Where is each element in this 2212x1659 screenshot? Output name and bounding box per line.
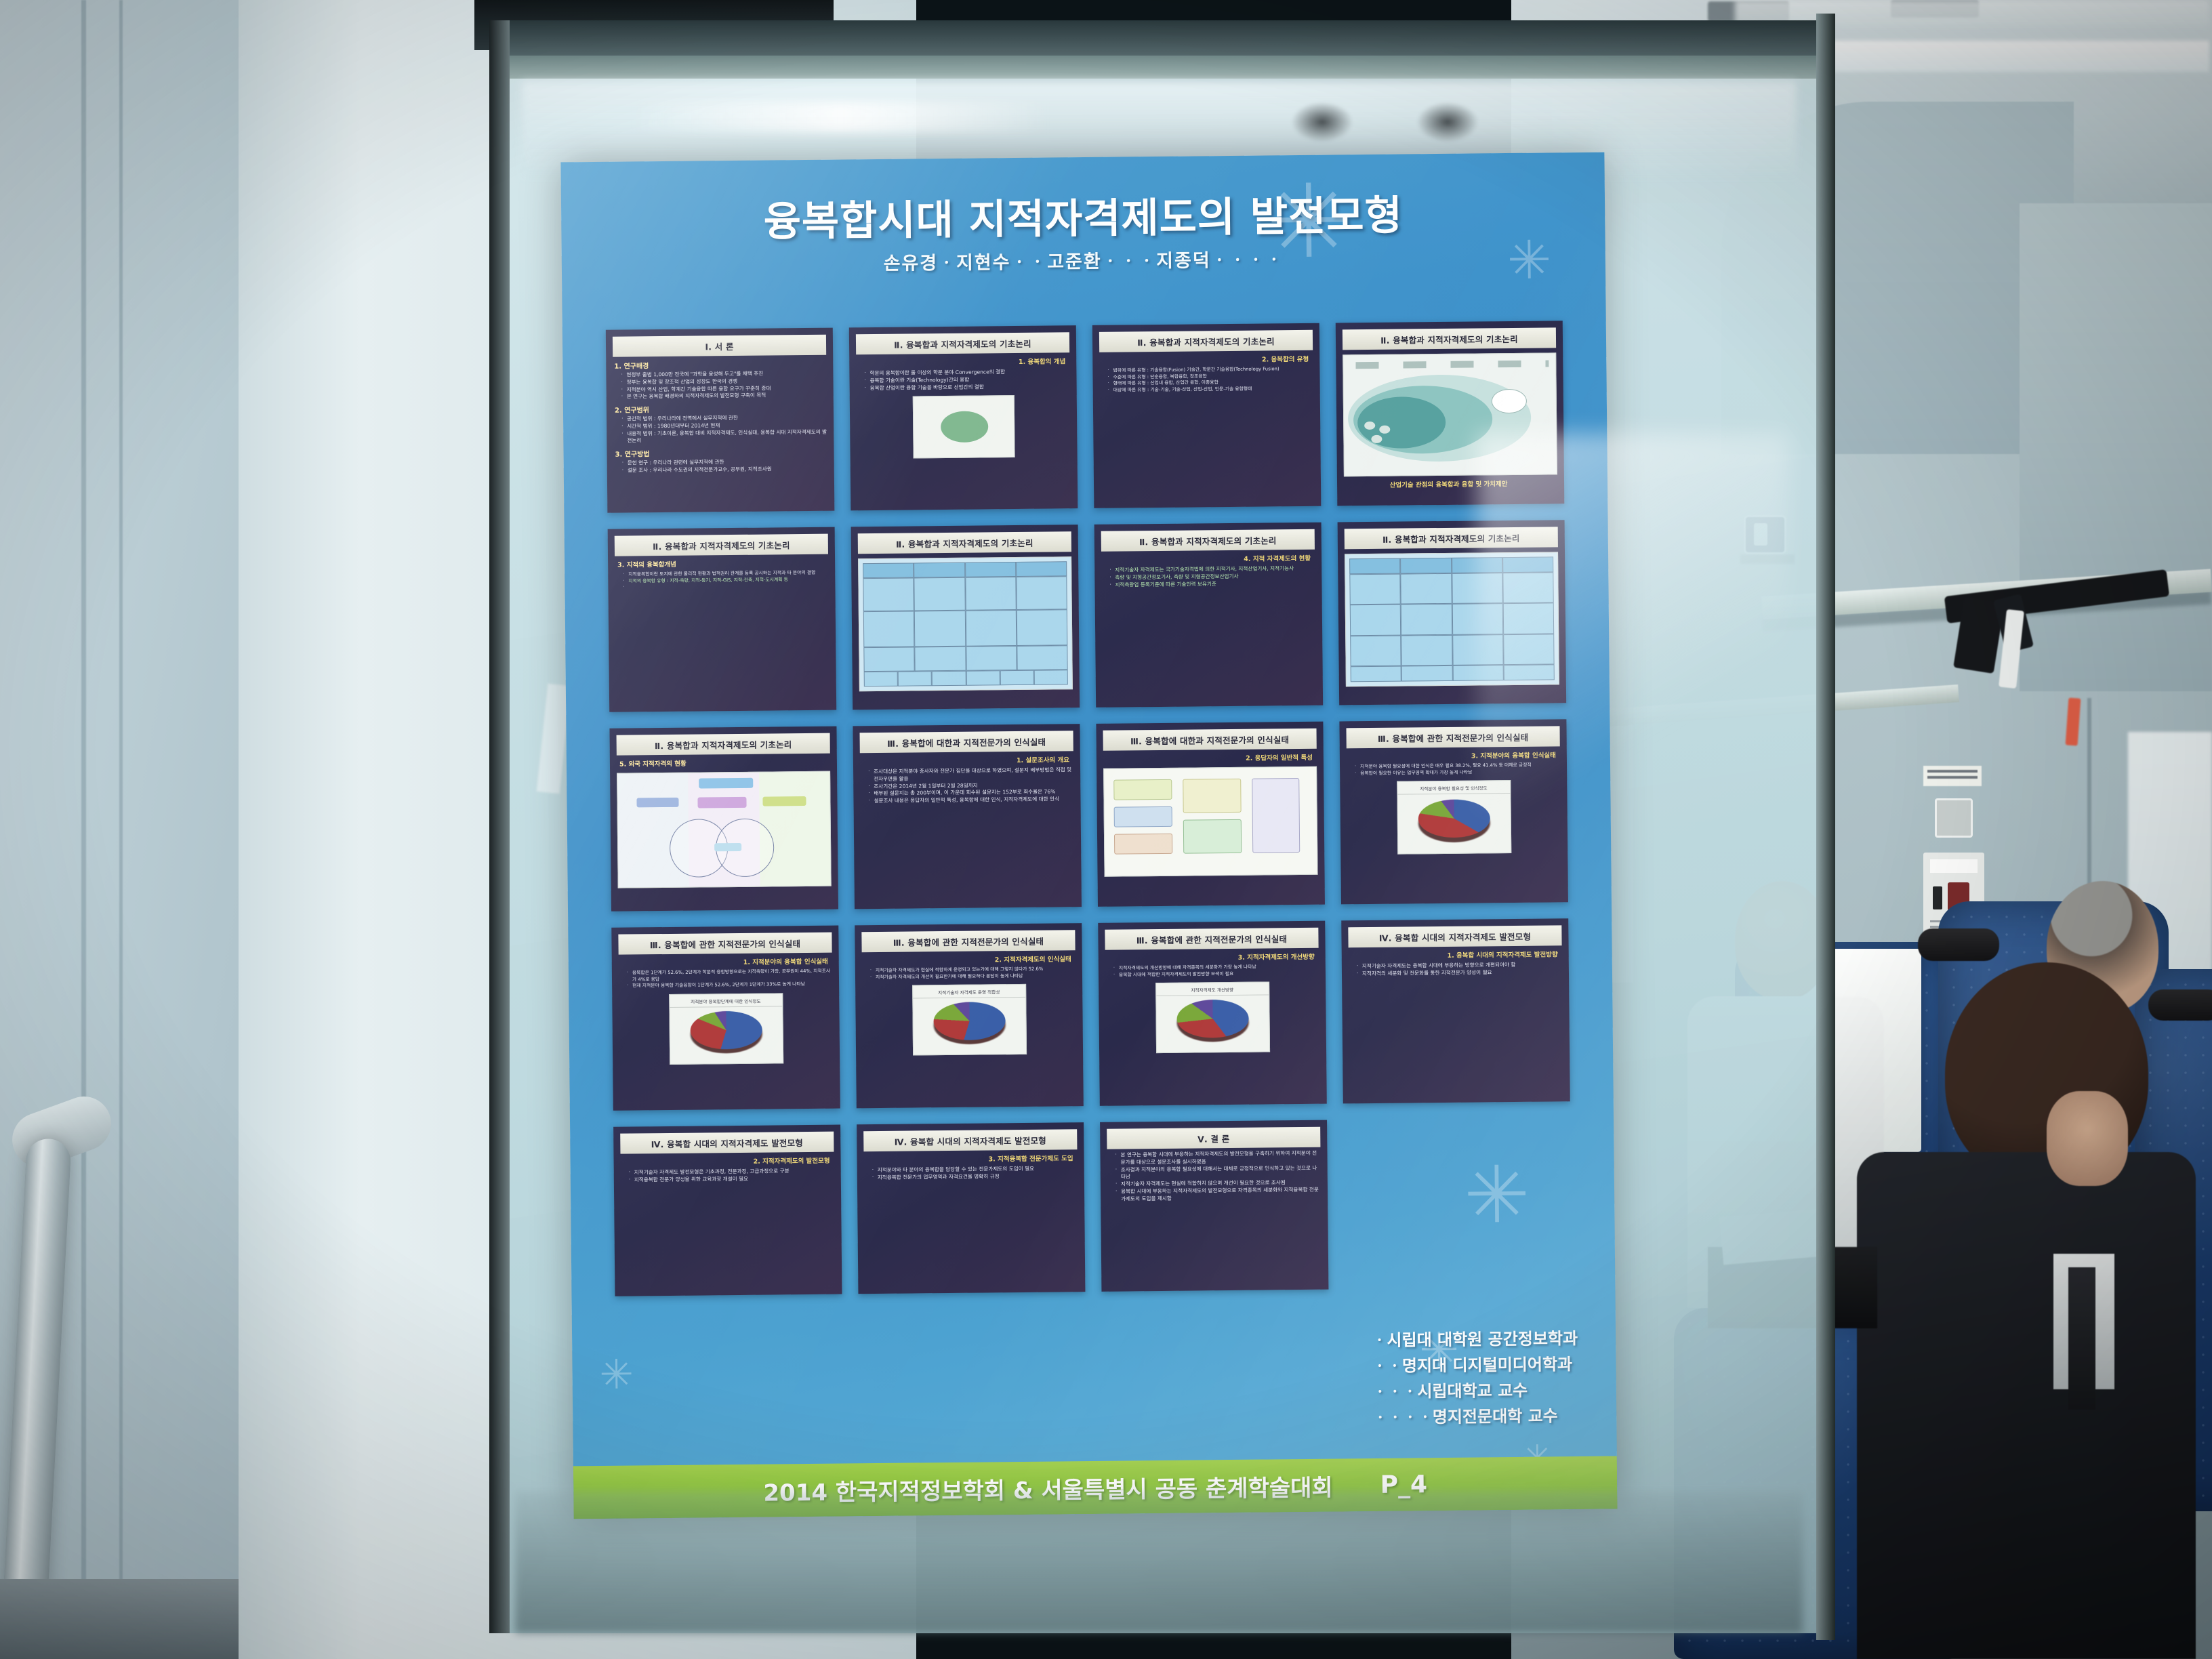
slide-subtitle: 3. 지적자격제도의 개선방향 (1105, 951, 1319, 963)
poster-title: 융복합시대 지적자격제도의 발전모형 (561, 181, 1605, 250)
pie-3d-slices (690, 1011, 762, 1050)
slide-subtitle: 2. 지적자격제도의 인식실태 (862, 954, 1076, 965)
wall-seam (81, 0, 86, 1659)
table-cell (1349, 558, 1400, 574)
flow-box (1183, 819, 1242, 854)
poster-slide-grid: Ⅰ. 서 론 1. 연구배경 현정부 출범 1,000만 전국에 "과학을 융성… (606, 321, 1572, 1296)
slide-header: Ⅱ. 융복합과 지적자격제도의 기초논리 (1101, 529, 1315, 552)
speaker-grille-icon (1935, 798, 1973, 838)
glass-frame-left (489, 20, 510, 1633)
slide-header: Ⅲ. 융복합에 대한과 지적전문가의 인식실태 (860, 731, 1073, 753)
panel-label-strip (1930, 859, 1978, 873)
table-row (864, 670, 1068, 687)
glass-reflection-spot-2 (1416, 102, 1479, 142)
slide-header: Ⅱ. 융복합과 지적자격제도의 기초논리 (1099, 330, 1313, 352)
slide-body: 융복합은 1단계가 52.6%, 2단계가 학문적 융합방향으로는 지적측량이 … (619, 968, 832, 990)
slide-header: Ⅳ. 융복합 시대의 지적자격제도 발전모형 (620, 1132, 834, 1154)
pie-chart: 지적자격제도 개선방향 (1156, 983, 1269, 1053)
table-cell (1017, 646, 1068, 670)
slide-subtitle: 2. 융복합의 유형 (1099, 354, 1313, 365)
pie-chart-title: 지적기술자 자격제도 운영 적합성 (913, 988, 1025, 999)
slide-header: Ⅲ. 융복합에 대한과 지적전문가의 인식실태 (1103, 729, 1317, 751)
poster-slide: Ⅰ. 서 론 1. 연구배경 현정부 출범 1,000만 전국에 "과학을 융성… (606, 328, 835, 513)
poster-slide: Ⅳ. 융복합 시대의 지적자격제도 발전모형 2. 지적자격제도의 발전모형 지… (613, 1125, 842, 1296)
glass-rail-top (504, 20, 1826, 56)
slide-body: 지적기술자 자격제도가 현실에 적합하게 운영되고 있는가에 대해 그렇지 않다… (862, 966, 1076, 981)
flow-box (1114, 806, 1172, 827)
figure-caption (859, 692, 1073, 694)
table-cell (863, 647, 915, 672)
pie-chart-title: 지적분야 융복합단계에 대한 인식정도 (670, 997, 782, 1008)
glass-reflection-lamp (630, 102, 1050, 133)
slide-subtitle: 2. 응답자의 일반적 특성 (1103, 752, 1317, 764)
flow-box (1113, 779, 1172, 800)
slide-bullet: 융복합 시대에 부응하는 지적자격제도의 발전모형으로 자격종목의 세분화와 지… (1115, 1187, 1321, 1203)
table-row (863, 646, 1067, 672)
table-cell (1016, 561, 1067, 577)
slide-subtitle: 1. 융복합의 개념 (856, 356, 1069, 367)
slide-bullet: 지적자격의 세분화 및 전문화를 통한 지적전문가 양성이 필요 (1357, 968, 1562, 978)
slide-bullet: 지적기술자 자격제도의 개선이 필요한가에 대해 필요하다 응답이 높게 나타남 (870, 972, 1076, 981)
pie-chart: 지적분야 융복합단계에 대한 인식정도 (670, 994, 783, 1064)
figure-caption (857, 460, 1071, 462)
table-cell (915, 647, 966, 671)
poster-slide: Ⅱ. 융복합과 지적자격제도의 기초논리 2. 융복합의 유형 범위에 따른 유… (1092, 323, 1322, 508)
venn-node-right (762, 796, 806, 806)
slide-subtitle: 5. 외국 지적자격의 현황 (617, 757, 830, 769)
slide-header: Ⅲ. 융복합에 관한 지적전문가의 인식실태 (1105, 928, 1318, 950)
glass-reflection-sheen (1477, 434, 1789, 813)
slide-body: 범위에 따른 유형 : 기술융합(Fusion) 기술간, 학문간 기술융합(T… (1099, 366, 1313, 394)
affiliation-line: ㆍㆍㆍㆍ명지전문대학 교수 (1372, 1404, 1578, 1431)
slide-subtitle: 4. 지적 자격제도의 현황 (1101, 553, 1315, 565)
affiliation-line: ㆍㆍ명지대 디지털미디어학과 (1372, 1352, 1578, 1380)
slide-bullet: 지적측량업 등록기준에 따른 기술인력 보유기준 (1109, 579, 1315, 589)
table-row (863, 609, 1067, 647)
slide-body: 지적기술자 자격제도는 융복합 시대에 부응하는 방향으로 개편되어야 함 지적… (1349, 961, 1562, 978)
emergency-notice-label (1923, 766, 1982, 786)
poster-affiliations: ㆍ시립대 대학원 공간정보학과 ㆍㆍ명지대 디지털미디어학과 ㆍㆍㆍ시립대학교 … (1372, 1326, 1578, 1431)
poster-slide: Ⅲ. 융복합에 대한과 지적전문가의 인식실태 2. 응답자의 일반적 특성 (1096, 722, 1325, 907)
poster-slide: Ⅲ. 융복합에 대한과 지적전문가의 인식실태 1. 설문조사의 개요 조사대상… (853, 724, 1082, 909)
slide-body: 지적기술자 자격제도 발전모형은 기초과정, 전문과정, 고급과정으로 구분 지… (621, 1168, 834, 1185)
poster-slide: Ⅱ. 융복합과 지적자격제도의 기초논리 1. 융복합의 개념 학문의 융복합이… (849, 325, 1078, 510)
photo-scene: 융복합시대 지적자격제도의 발전모형 손유경ㆍ지현수ㆍㆍ고준환ㆍㆍㆍ지종덕ㆍㆍㆍ… (0, 0, 2212, 1659)
table-cell (1401, 604, 1452, 635)
table-cell (1017, 609, 1068, 646)
table-cell (914, 577, 966, 611)
slide-subtitle: 1. 지적분야의 융복합 인식실태 (619, 956, 832, 968)
venn-root-node (699, 778, 753, 789)
poster-slide: Ⅲ. 융복합에 관한 지적전문가의 인식실태 3. 지적자격제도의 개선방향 지… (1098, 921, 1327, 1106)
comparison-table-figure (858, 556, 1073, 691)
slide-header: Ⅲ. 융복합에 관한 지적전문가의 인식실태 (861, 930, 1075, 952)
table-cell (863, 611, 915, 647)
slide-header: Ⅱ. 융복합과 지적자격제도의 기초논리 (858, 531, 1071, 554)
snowflake-icon: ✳ (599, 1354, 634, 1395)
slide-bullet: 설문 조사 : 우리나라 수도권의 지적전문가교수, 공무원, 지적조사원 (622, 466, 827, 475)
slide-subtitle: 1. 융복합 시대의 지적자격제도 발전방향 (1349, 949, 1562, 960)
glass-frame-right (1816, 14, 1835, 1640)
slide-bullet: 대상에 따른 유형 : 기술-기술, 기술-산업, 산업-산업, 인문-기술 융… (1108, 386, 1313, 394)
table-cell (1401, 573, 1452, 605)
slide-bullet: 본 연구는 융복합 시대에 부응하는 지적자격제도의 발전모형을 구축하기 위하… (1115, 1150, 1320, 1166)
poster-slide: Ⅳ. 융복합 시대의 지적자격제도 발전모형 1. 융복합 시대의 지적자격제도… (1341, 918, 1570, 1103)
flow-box (1183, 779, 1241, 813)
table-cell (1350, 635, 1401, 666)
table-cell (932, 671, 966, 687)
slide-bullet: 융복합 시대에 적합한 지적자격제도의 발전방향 모색이 필요 (1113, 970, 1319, 979)
pie-chart-figure: 지적분야 융복합단계에 대한 인식정도 (669, 993, 783, 1065)
seat-armrest (2148, 989, 2212, 1021)
slide-subtitle: 3. 지적융복합 전문가제도 도입 (864, 1153, 1078, 1164)
venn-intersection-label (714, 843, 741, 851)
slide-body: 지적분야와 타 분야의 융복합을 담당할 수 있는 전문가제도의 도입이 필요 … (864, 1165, 1078, 1182)
glass-reflection-lower (515, 1491, 1803, 1633)
venn-node-left (636, 798, 678, 808)
pie-chart-figure: 지적자격제도 개선방향 (1155, 982, 1270, 1054)
table-cell (914, 562, 964, 578)
table-cell (1349, 573, 1401, 605)
poster-slide: Ⅴ. 결 론 본 연구는 융복합 시대에 부응하는 지적자격제도의 발전모형을 … (1100, 1120, 1328, 1292)
slide-section-heading: 1. 연구배경 (614, 359, 826, 371)
seat-armrest (1918, 928, 1999, 961)
slide-section-heading: 2. 연구범위 (615, 403, 827, 415)
table-cell (863, 562, 914, 578)
oval-dot (1364, 422, 1375, 430)
slide-body: 1. 연구배경 현정부 출범 1,000만 전국에 "과학을 융성해 두고"를 … (613, 359, 827, 475)
slide-header: Ⅳ. 융복합 시대의 지적자격제도 발전모형 (863, 1129, 1077, 1151)
table-cell (966, 670, 1000, 686)
slide-header: Ⅰ. 서 론 (613, 335, 826, 357)
poster-slide: Ⅱ. 융복합과 지적자격제도의 기초논리 (851, 525, 1080, 710)
slide-header: Ⅱ. 융복합과 지적자격제도의 기초논리 (856, 332, 1069, 354)
pie-chart-figure: 지적기술자 자격제도 운영 적합성 (912, 984, 1027, 1056)
slide-body: 지적융복합이란 토지에 관한 물리적 현황과 법적권리 관계를 등록 공시하는 … (615, 570, 828, 585)
table-cell (966, 646, 1017, 670)
mini-table (863, 561, 1068, 687)
table-cell (1350, 605, 1401, 636)
table-cell (1034, 670, 1068, 685)
venn-figure (912, 395, 1015, 458)
table-cell (965, 610, 1017, 647)
slide-body: 지적자격제도의 개선방향에 대해 자격종목의 세분화가 가장 높게 나타남 융복… (1105, 964, 1319, 979)
slide-body: 학문의 융복합이란 둘 이상의 학문 분야 Convergence의 결합 융복… (856, 368, 1069, 392)
slide-subtitle: 3. 지적의 융복합개념 (615, 558, 828, 569)
slide-bullet: 융복합 산업이란 융합 기술을 바탕으로 산업간의 결합 (865, 383, 1070, 392)
table-cell (1016, 576, 1067, 610)
flow-boxes-figure (1103, 766, 1318, 877)
panel-switch[interactable] (1933, 886, 1942, 909)
slide-subtitle: 2. 지적자격제도의 발전모형 (621, 1155, 834, 1167)
slide-bullet: 현재 지적분야 융복합 기술융합이 1단계가 52.6%, 2단계가 1단계가 … (627, 981, 832, 990)
slide-body: 본 연구는 융복합 시대에 부응하는 지적자격제도의 발전모형을 구축하기 위하… (1107, 1150, 1321, 1203)
poster-slide-empty (1343, 1118, 1572, 1289)
table-cell (898, 671, 932, 687)
affiliation-line: ㆍ시립대 대학원 공간정보학과 (1372, 1326, 1578, 1354)
slide-subtitle: 1. 설문조사의 개요 (860, 754, 1073, 766)
table-cell (1351, 666, 1401, 682)
slide-header: Ⅲ. 융복합에 관한 지적전문가의 인식실태 (618, 933, 832, 955)
venn-ellipse (940, 411, 987, 443)
table-cell (1401, 665, 1452, 681)
slide-body: 조사대상은 지적분야 종사자와 전문가 집단을 대상으로 하였으며, 설문지 배… (860, 766, 1074, 805)
flow-box (1114, 834, 1172, 855)
slide-header: Ⅱ. 융복합과 지적자격제도의 기초논리 (617, 733, 830, 756)
pie-chart-title: 지적자격제도 개선방향 (1156, 986, 1269, 997)
slide-bullet: 본 연구는 융복합 배경하의 지적자격제도의 발전모형 구축이 목적 (621, 392, 827, 401)
slide-bullet: 조사결과 지적분야의 융복합 필요성에 대해서는 대체로 긍정적으로 인식하고 … (1115, 1164, 1321, 1181)
table-cell (1401, 635, 1452, 666)
snowflake-icon: ✳ (1266, 171, 1352, 273)
venn-diagram-figure (617, 771, 832, 888)
slide-bullet: 지적의 융복합 유형 : 지적-측량, 지적-등기, 지적-GIS, 지적-건축… (623, 576, 828, 585)
slide-bullet: 조사대상은 지적분야 종사자와 전문가 집단을 대상으로 하였으며, 설문지 배… (868, 766, 1073, 783)
table-cell (863, 578, 914, 612)
oval-dot (1371, 435, 1382, 443)
oval-dot (1379, 426, 1390, 434)
table-cell (864, 671, 898, 687)
cabin-wall-panel-right (2020, 203, 2212, 691)
poster-slide: Ⅳ. 융복합 시대의 지적자격제도 발전모형 3. 지적융복합 전문가제도 도입… (857, 1122, 1085, 1294)
snowflake-icon: ✳ (1507, 234, 1552, 287)
slide-section-heading: 3. 연구방법 (615, 447, 827, 459)
poster-slide: Ⅱ. 융복합과 지적자격제도의 기초논리 3. 지적의 융복합개념 지적융복합이… (608, 527, 837, 712)
wall-seam (119, 0, 123, 1659)
poster-slide: Ⅱ. 융복합과 지적자격제도의 기초논리 5. 외국 지적자격의 현황 (609, 726, 838, 912)
table-row (863, 576, 1067, 611)
affiliation-line: ㆍㆍㆍ시립대학교 교수 (1372, 1378, 1578, 1406)
slide-header: Ⅴ. 결 론 (1107, 1127, 1320, 1149)
slide-body: 지적기술자 자격제도는 국가기술자격법에 의한 지적기사, 지적산업기사, 지적… (1101, 565, 1315, 589)
slide-bullet: 지적융복합 전문가 양성을 위한 교육과정 개설이 필요 (629, 1174, 834, 1184)
table-cell (914, 611, 966, 647)
poster-slide: Ⅲ. 융복합에 관한 지적전문가의 인식실태 2. 지적자격제도의 인식실태 지… (855, 923, 1084, 1108)
slide-bullet: 설문조사 내용은 응답자의 일반적 특성, 융복합에 대한 인식, 지적자격제도… (868, 796, 1073, 805)
poster-slide: Ⅱ. 융복합과 지적자격제도의 기초논리 4. 지적 자격제도의 현황 지적기술… (1094, 523, 1324, 708)
table-cell (1000, 670, 1033, 686)
slide-header: Ⅱ. 융복합과 지적자격제도의 기초논리 (1343, 327, 1556, 350)
pie-chart: 지적기술자 자격제도 운영 적합성 (913, 985, 1026, 1055)
glass-reflection-spot (1291, 102, 1353, 142)
slide-bullet: 내용적 범위 : 기초이론, 융복합 대비 지적자격제도, 인식실태, 융복합 … (621, 428, 827, 445)
table-row (863, 561, 1067, 578)
figure-axis-labels (1355, 360, 1549, 369)
poster-slide: Ⅲ. 융복합에 관한 지적전문가의 인식실태 1. 지적분야의 융복합 인식실태… (611, 926, 840, 1111)
flow-box (1252, 778, 1300, 853)
venn-node-center (697, 797, 746, 808)
academic-poster: 융복합시대 지적자격제도의 발전모형 손유경ㆍ지현수ㆍㆍ고준환ㆍㆍㆍ지종덕ㆍㆍㆍ… (560, 152, 1617, 1519)
slide-header: Ⅱ. 융복합과 지적자격제도의 기초논리 (615, 534, 828, 556)
table-cell (1400, 558, 1451, 573)
glass-rail-secondary (504, 56, 1826, 79)
table-cell (965, 562, 1016, 577)
table-cell (965, 577, 1017, 611)
slide-header: Ⅳ. 융복합 시대의 지적자격제도 발전모형 (1348, 925, 1561, 947)
slide-bullet: 지적융복합 전문가의 업무영역과 자격요건을 명확히 규정 (872, 1172, 1078, 1182)
